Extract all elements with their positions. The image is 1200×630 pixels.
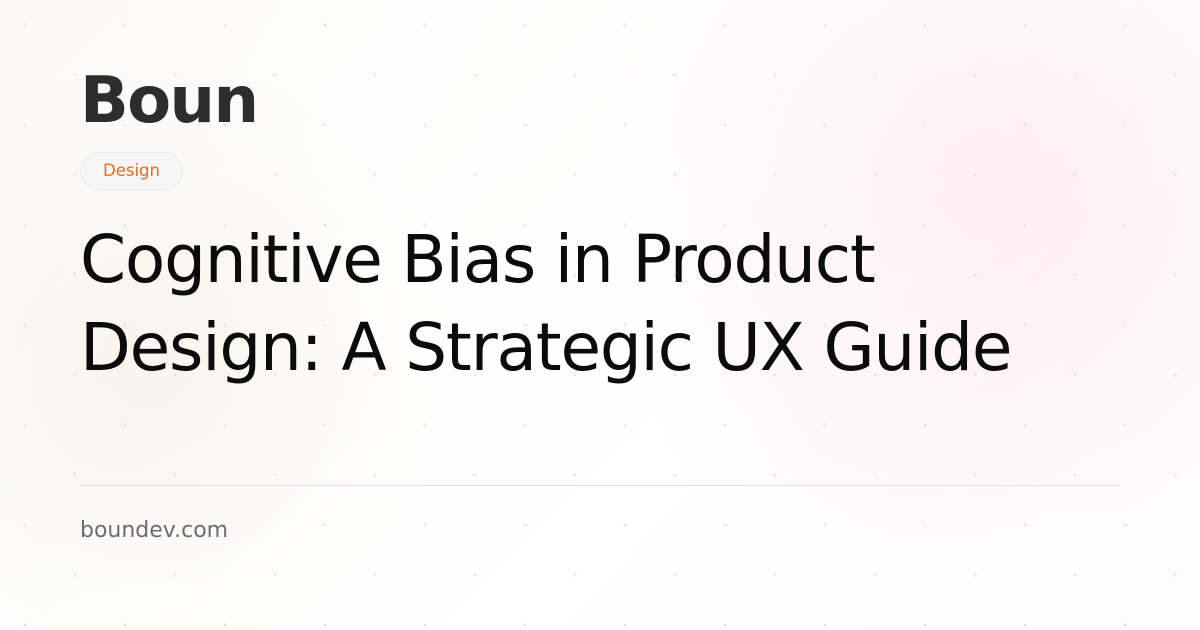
footer-divider	[80, 485, 1120, 486]
page-title: Cognitive Bias in Product Design: A Stra…	[80, 216, 1030, 392]
card-content: Boundev Design Cognitive Bias in Product…	[80, 0, 1120, 630]
brand-logo-accent: dev	[257, 64, 383, 138]
site-url: boundev.com	[80, 518, 228, 544]
category-badge[interactable]: Design	[80, 152, 183, 190]
brand-logo-primary: Boun	[80, 64, 257, 138]
category-badge-label: Design	[103, 163, 160, 180]
share-card: Boundev Design Cognitive Bias in Product…	[0, 0, 1200, 630]
brand-logo[interactable]: Boundev	[80, 69, 384, 133]
